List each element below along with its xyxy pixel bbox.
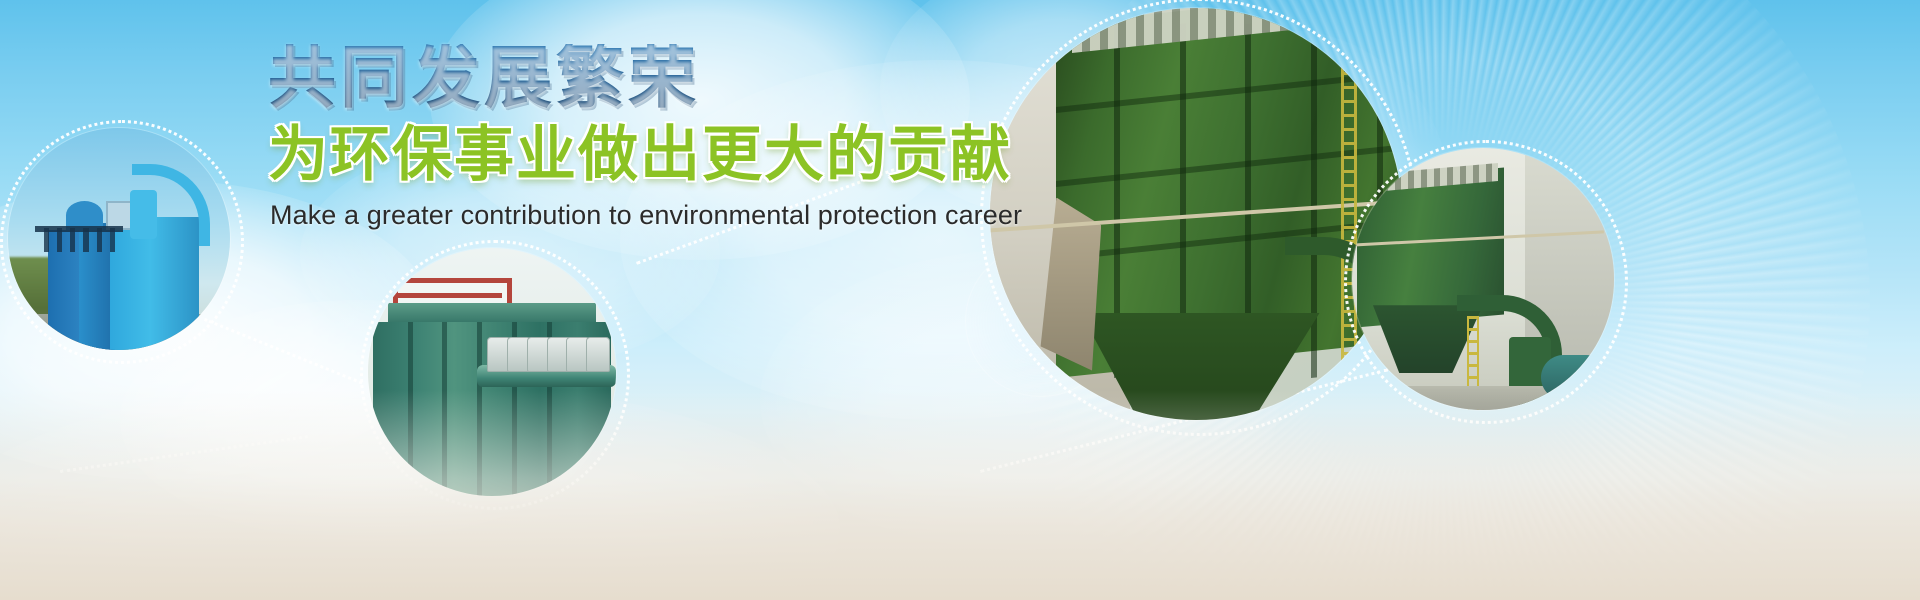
photo-green-dust-collector-small bbox=[1352, 148, 1614, 410]
photo-teal-dust-collector bbox=[368, 248, 616, 496]
banner-copy: 共同发展繁荣 共同发展繁荣 为环保事业做出更大的贡献 Make a greate… bbox=[268, 44, 968, 231]
promo-banner: 共同发展繁荣 共同发展繁荣 为环保事业做出更大的贡献 Make a greate… bbox=[0, 0, 1920, 600]
photo-green-dust-collector-large bbox=[990, 8, 1402, 420]
subheadline-chinese: 为环保事业做出更大的贡献 bbox=[268, 123, 968, 186]
horizon-haze bbox=[0, 390, 1920, 600]
headline-chinese: 共同发展繁荣 bbox=[268, 44, 968, 113]
dashed-connector-line bbox=[60, 435, 308, 473]
subheadline-english: Make a greater contribution to environme… bbox=[270, 200, 968, 231]
photo-blue-dust-collector bbox=[8, 128, 230, 350]
